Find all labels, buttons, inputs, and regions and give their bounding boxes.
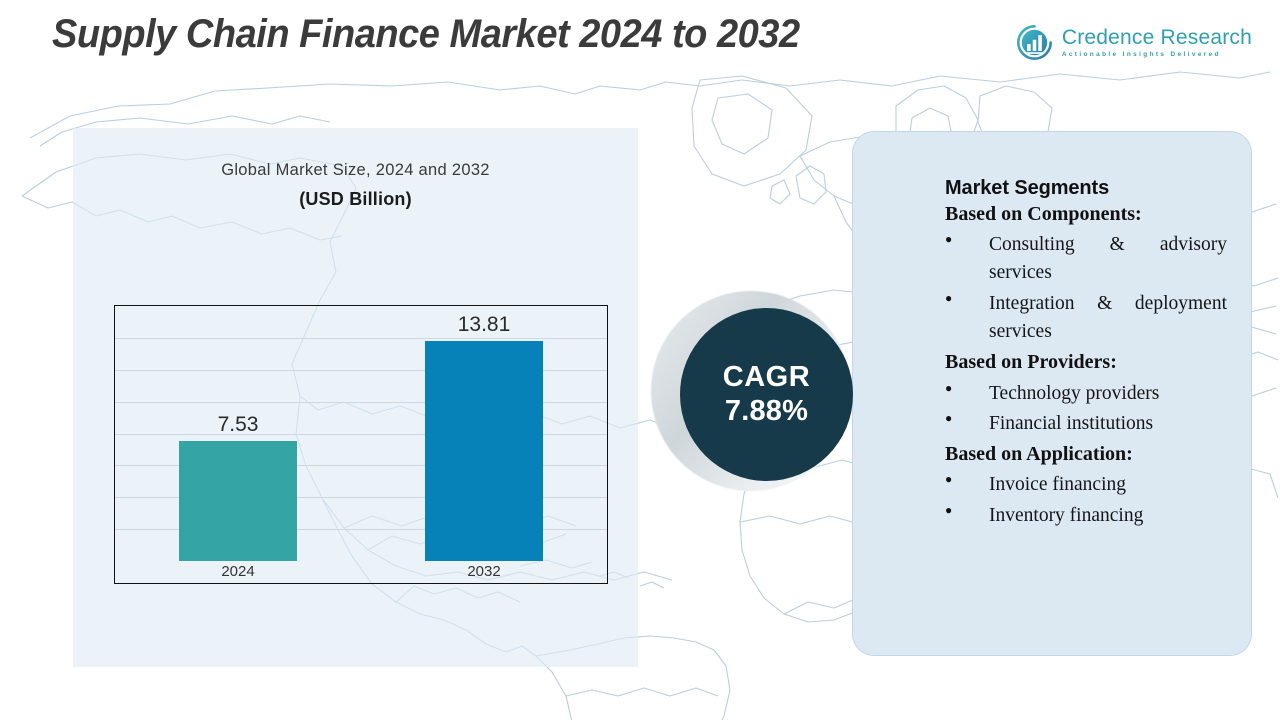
- segment-list-item: ●Technology providers: [945, 380, 1227, 408]
- brand-logo[interactable]: Credence Research Actionable Insights De…: [1016, 24, 1252, 61]
- segment-list: ●Technology providers●Financial institut…: [945, 380, 1227, 438]
- logo-text: Credence Research Actionable Insights De…: [1062, 27, 1252, 58]
- segment-list-item: ●Invoice financing: [945, 471, 1227, 499]
- chart-gridline: [115, 338, 607, 339]
- chart-bar-value: 13.81: [424, 313, 544, 337]
- segments-groups: Based on Components:●Consulting & adviso…: [945, 202, 1227, 530]
- segment-list-item: ●Financial institutions: [945, 410, 1227, 438]
- bullet-icon: ●: [945, 231, 952, 248]
- header: Supply Chain Finance Market 2024 to 2032…: [0, 0, 1280, 76]
- bullet-icon: ●: [945, 502, 952, 519]
- segment-item-label: Consulting & advisory services: [989, 234, 1227, 283]
- segment-list-item: ●Integration & deployment services: [945, 290, 1227, 346]
- bullet-icon: ●: [945, 410, 952, 427]
- chart-category-label: 2024: [178, 561, 298, 583]
- logo-tagline: Actionable Insights Delivered: [1062, 52, 1252, 58]
- segment-list-item: ●Consulting & advisory services: [945, 231, 1227, 287]
- chart-category-label: 2032: [424, 561, 544, 583]
- bar-chart-plot: 7.53202413.812032: [114, 305, 608, 584]
- infographic-page: Supply Chain Finance Market 2024 to 2032…: [0, 0, 1280, 720]
- segment-item-label: Integration & deployment services: [989, 293, 1227, 342]
- segments-heading: Market Segments: [945, 177, 1227, 201]
- cagr-badge: CAGR 7.88%: [651, 291, 869, 509]
- bar-chart-circle-icon: [1016, 24, 1053, 61]
- cagr-label: CAGR: [723, 361, 810, 394]
- page-title: Supply Chain Finance Market 2024 to 2032: [52, 12, 800, 57]
- segment-item-label: Technology providers: [989, 383, 1159, 404]
- bullet-icon: ●: [945, 380, 952, 397]
- chart-title-primary: Global Market Size, 2024 and 2032: [73, 161, 638, 180]
- segment-list: ●Consulting & advisory services●Integrat…: [945, 231, 1227, 345]
- chart-bar: [179, 441, 297, 561]
- segment-group-heading: Based on Application:: [945, 442, 1227, 467]
- logo-name: Credence Research: [1062, 27, 1252, 48]
- bullet-icon: ●: [945, 471, 952, 488]
- chart-panel: Global Market Size, 2024 and 2032 (USD B…: [73, 128, 638, 667]
- bullet-icon: ●: [945, 290, 952, 307]
- cagr-circle: CAGR 7.88%: [680, 308, 853, 481]
- segment-item-label: Financial institutions: [989, 413, 1153, 434]
- cagr-value: 7.88%: [725, 395, 808, 428]
- chart-bar: [425, 341, 543, 561]
- segment-group-heading: Based on Providers:: [945, 350, 1227, 375]
- chart-title-units: (USD Billion): [73, 189, 638, 210]
- segment-group-heading: Based on Components:: [945, 202, 1227, 227]
- chart-bar-value: 7.53: [178, 413, 298, 437]
- segment-list-item: ●Inventory financing: [945, 502, 1227, 530]
- segment-list: ●Invoice financing●Inventory financing: [945, 471, 1227, 529]
- market-segments-panel: Market Segments Based on Components:●Con…: [852, 131, 1252, 656]
- segment-item-label: Inventory financing: [989, 505, 1143, 526]
- segment-item-label: Invoice financing: [989, 474, 1126, 495]
